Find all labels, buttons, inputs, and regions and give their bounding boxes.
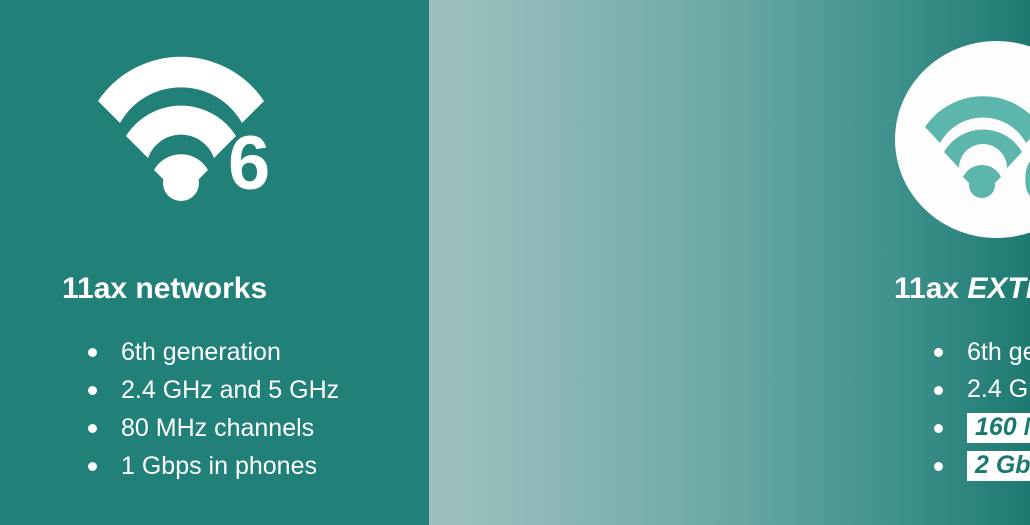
list-item-label: 2 Gbps in phones xyxy=(967,451,1030,481)
wifi6-heading: 11ax networks xyxy=(62,274,267,304)
list-item-label: 6th generation xyxy=(121,340,281,365)
bullet-dot-icon xyxy=(934,386,943,395)
wifi6-feature-list: 6th generation 2.4 GHz and 5 GHz 80 MHz … xyxy=(88,333,339,485)
wifi-6-icon-label: 6 xyxy=(228,126,269,202)
bullet-dot-icon xyxy=(934,424,943,433)
list-item: 2.4 GHz, 5 GHz, and 6 GHz xyxy=(934,371,1030,409)
list-item-label: 6th generation EXTENDED xyxy=(967,340,1030,365)
heading-italic-part: EXTENDED to 6 GHz xyxy=(967,272,1030,305)
bullet-dot-icon xyxy=(88,462,97,471)
text-pre: 6th generation xyxy=(967,338,1030,366)
text-pre: 2.4 GHz, 5 GHz, and xyxy=(967,375,1030,403)
list-item: 6th generation EXTENDED xyxy=(934,333,1030,371)
list-item: 2.4 GHz and 5 GHz xyxy=(88,371,339,409)
wifi6-vs-wifi6e-infographic: 6 11ax networks 6th generation 2.4 GHz a… xyxy=(0,0,1030,525)
bullet-dot-icon xyxy=(934,348,943,357)
wifi6-panel: 6 11ax networks 6th generation 2.4 GHz a… xyxy=(0,0,429,525)
list-item-label: 2.4 GHz and 5 GHz xyxy=(121,378,339,403)
list-item-label: 80 MHz channels xyxy=(121,416,314,441)
bullet-dot-icon xyxy=(88,424,97,433)
list-item: 80 MHz channels xyxy=(88,409,339,447)
wifi6e-panel: 6E 11ax EXTENDED to 6 GHz 6th generation… xyxy=(429,0,1030,525)
heading-plain-part: 11ax xyxy=(894,272,967,305)
list-item: 1 Gbps in phones xyxy=(88,447,339,485)
highlight-badge: 160 MHz xyxy=(967,413,1030,443)
bullet-dot-icon xyxy=(88,348,97,357)
wifi6e-heading: 11ax EXTENDED to 6 GHz xyxy=(894,274,1030,304)
bullet-dot-icon xyxy=(934,462,943,471)
list-item: 6th generation xyxy=(88,333,339,371)
list-item-label: 1 Gbps in phones xyxy=(121,454,317,479)
wifi-6e-badge-label: 6E xyxy=(1023,149,1030,211)
list-item-label: 160 MHz channels xyxy=(967,413,1030,443)
list-item-label: 2.4 GHz, 5 GHz, and 6 GHz xyxy=(967,375,1030,405)
wifi-6e-badge-icon: 6E xyxy=(895,41,1030,238)
highlight-badge: 2 Gbps xyxy=(967,451,1030,481)
list-item: 160 MHz channels xyxy=(934,409,1030,447)
wifi6e-feature-list: 6th generation EXTENDED 2.4 GHz, 5 GHz, … xyxy=(934,333,1030,485)
list-item: 2 Gbps in phones xyxy=(934,447,1030,485)
bullet-dot-icon xyxy=(88,386,97,395)
wifi-signal-icon xyxy=(919,91,1030,201)
